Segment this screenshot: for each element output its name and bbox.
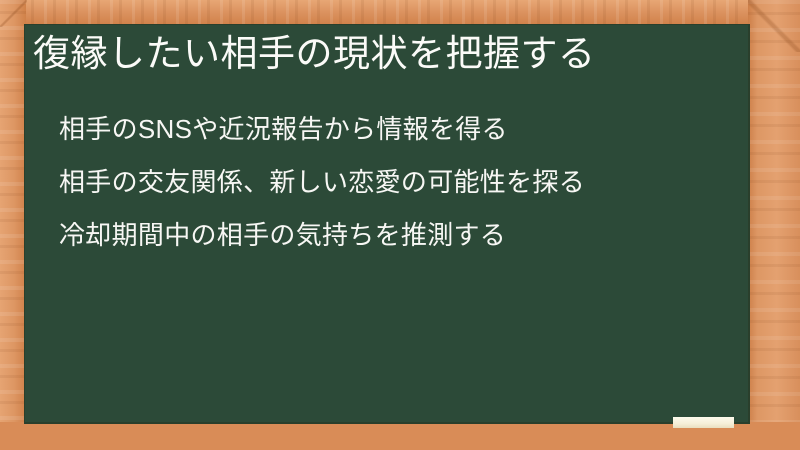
frame-mitre-top-left xyxy=(0,0,27,27)
chalk-stick-icon xyxy=(673,417,734,428)
frame-rail-top xyxy=(0,0,800,26)
board-title: 復縁したい相手の現状を把握する xyxy=(33,31,733,77)
chalkboard-slide: 復縁したい相手の現状を把握する 相手のSNSや近況報告から情報を得る 相手の交友… xyxy=(0,0,800,450)
frame-rail-left xyxy=(0,0,26,450)
frame-mitre-top-right xyxy=(748,0,800,52)
board-line: 冷却期間中の相手の気持ちを推測する xyxy=(59,209,739,262)
board-body-lines: 相手のSNSや近況報告から情報を得る 相手の交友関係、新しい恋愛の可能性を探る … xyxy=(59,103,739,262)
board-line: 相手の交友関係、新しい恋愛の可能性を探る xyxy=(59,156,739,209)
frame-rail-right xyxy=(748,0,800,450)
board-line: 相手のSNSや近況報告から情報を得る xyxy=(59,103,739,156)
chalkboard-surface: 復縁したい相手の現状を把握する 相手のSNSや近況報告から情報を得る 相手の交友… xyxy=(25,25,748,422)
